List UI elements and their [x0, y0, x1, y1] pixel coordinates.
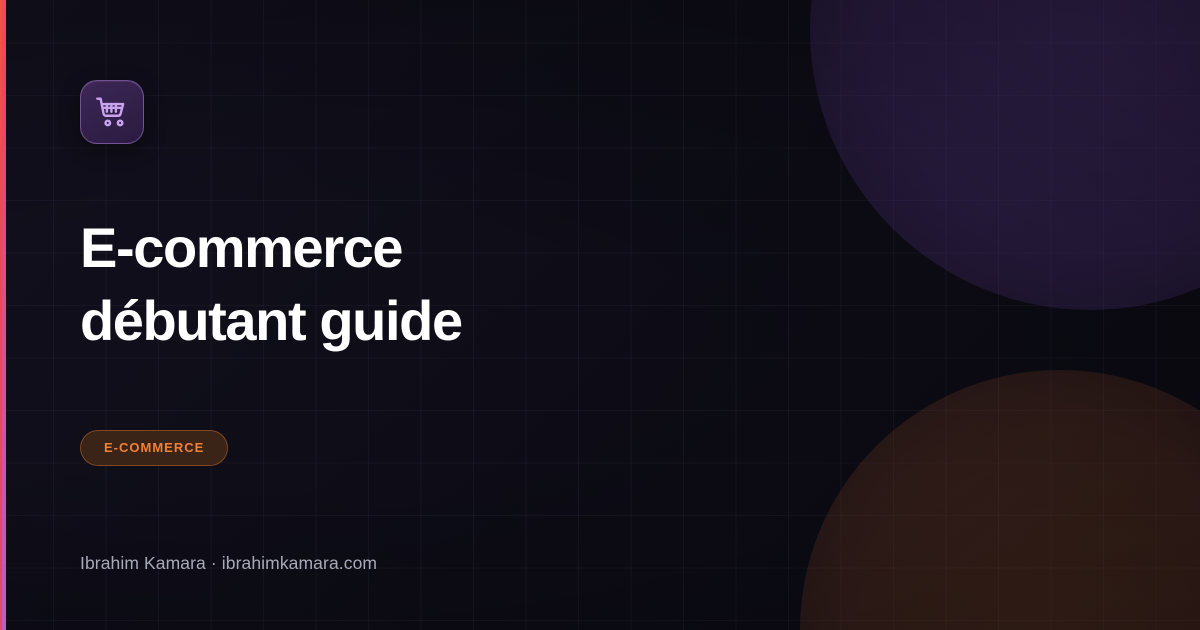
footer-attribution: Ibrahim Kamara · ibrahimkamara.com: [80, 555, 1120, 575]
card-content: E-commerce débutant guide E-COMMERCE Ibr…: [0, 0, 1200, 630]
category-badge: E-COMMERCE: [80, 430, 228, 466]
og-card: E-commerce débutant guide E-COMMERCE Ibr…: [0, 0, 1200, 630]
shopping-cart-icon: [94, 94, 130, 130]
page-title: E-commerce débutant guide: [80, 212, 780, 358]
layout-spacer: [80, 466, 1120, 555]
left-accent-stripe-edge: [0, 0, 2, 630]
brand-icon-tile: [80, 80, 144, 144]
left-accent-stripe: [0, 0, 6, 630]
badge-row: E-COMMERCE: [80, 430, 1120, 466]
